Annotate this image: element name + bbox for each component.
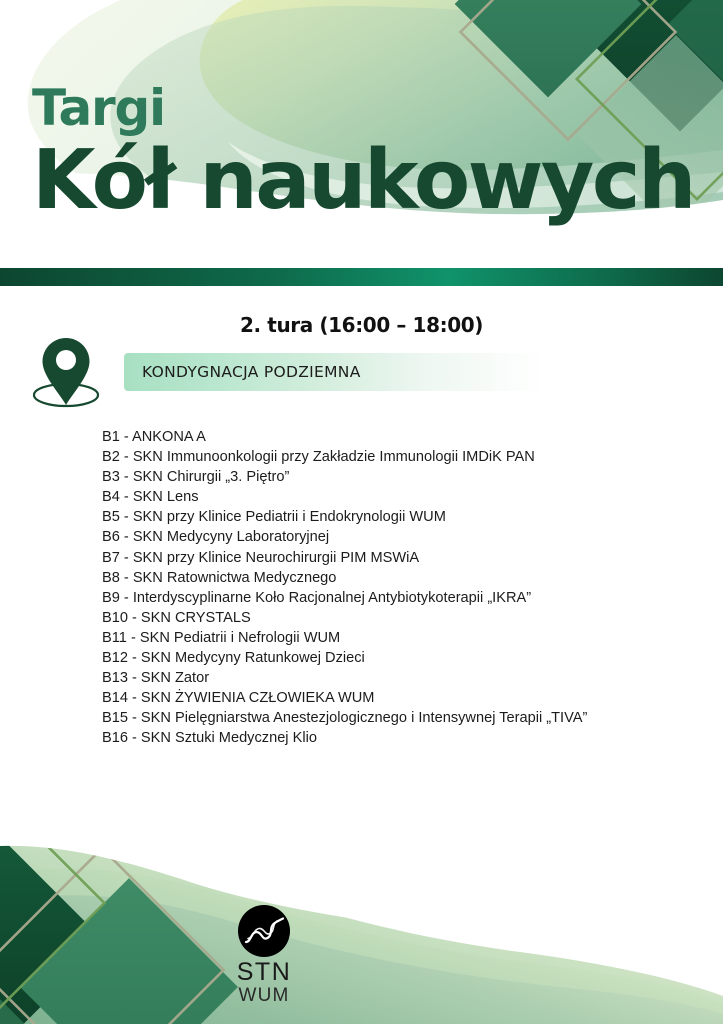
list-item: B5 - SKN przy Klinice Pediatrii i Endokr…	[102, 507, 682, 527]
footer-logo: STN WUM	[233, 905, 295, 1006]
poster-header: Targi Kół naukowych	[32, 82, 694, 224]
list-item: B8 - SKN Ratownictwa Medycznego	[102, 568, 682, 588]
booth-list: B1 - ANKONA A B2 - SKN Immunoonkologii p…	[102, 427, 682, 749]
list-item: B4 - SKN Lens	[102, 487, 682, 507]
page-title-line2: Kół naukowych	[32, 138, 694, 224]
list-item: B11 - SKN Pediatrii i Nefrologii WUM	[102, 628, 682, 648]
list-item: B10 - SKN CRYSTALS	[102, 608, 682, 628]
stn-wum-squiggle-logo-icon	[238, 905, 290, 957]
list-item: B15 - SKN Pielęgniarstwa Anestezjologicz…	[102, 708, 682, 728]
list-item: B13 - SKN Zator	[102, 668, 682, 688]
location-badge-label: KONDYGNACJA PODZIEMNA	[124, 363, 361, 381]
list-item: B1 - ANKONA A	[102, 427, 682, 447]
list-item: B9 - Interdyscyplinarne Koło Racjonalnej…	[102, 588, 682, 608]
list-item: B16 - SKN Sztuki Medycznej Klio	[102, 728, 682, 748]
section-divider-bar	[0, 268, 723, 286]
list-item: B2 - SKN Immunoonkologii przy Zakładzie …	[102, 447, 682, 467]
footer-logo-line1: STN	[233, 959, 295, 985]
page-title-line1: Targi	[32, 82, 694, 134]
footer-logo-line2: WUM	[233, 985, 295, 1006]
list-item: B3 - SKN Chirurgii „3. Piętro”	[102, 467, 682, 487]
poster-root: Targi Kół naukowych 2. tura (16:00 – 18:…	[0, 0, 723, 1024]
location-pin-icon	[22, 332, 110, 410]
bottom-decoration-graphic	[0, 724, 723, 1024]
list-item: B12 - SKN Medycyny Ratunkowej Dzieci	[102, 648, 682, 668]
list-item: B14 - SKN ŻYWIENIA CZŁOWIEKA WUM	[102, 688, 682, 708]
list-item: B6 - SKN Medycyny Laboratoryjnej	[102, 527, 682, 547]
location-row: KONDYGNACJA PODZIEMNA	[14, 332, 714, 412]
location-badge: KONDYGNACJA PODZIEMNA	[124, 353, 544, 391]
list-item: B7 - SKN przy Klinice Neurochirurgii PIM…	[102, 548, 682, 568]
